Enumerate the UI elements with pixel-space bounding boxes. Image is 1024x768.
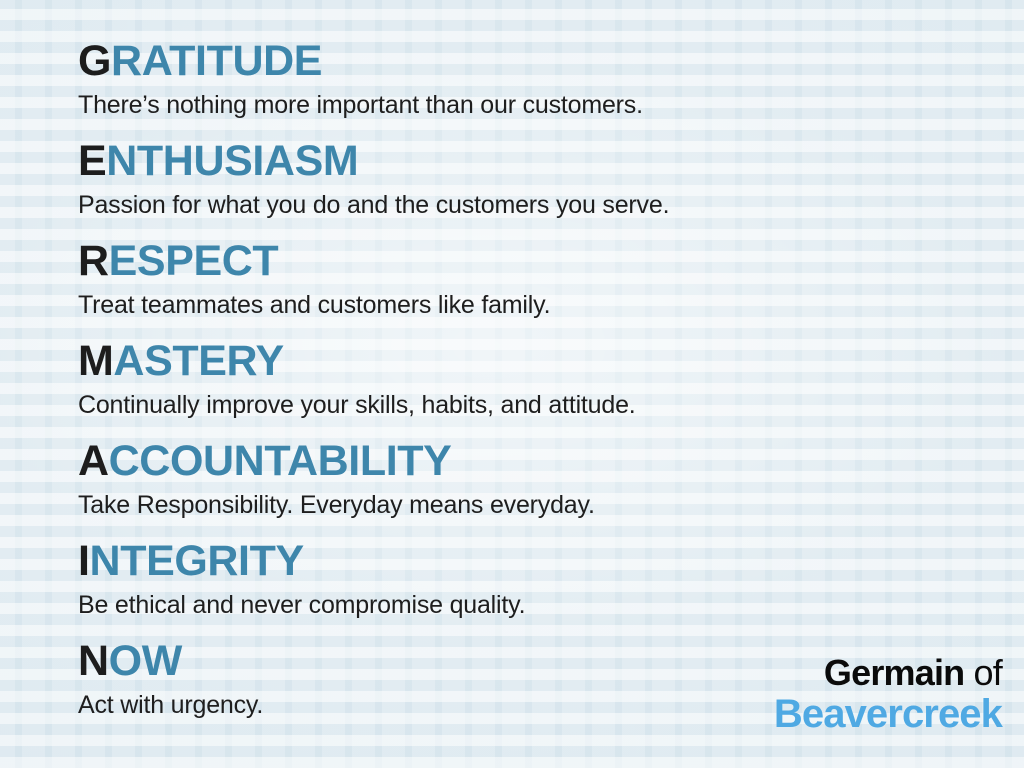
value-initial-letter: R: [78, 237, 109, 285]
value-row: ENTHUSIASM Passion for what you do and t…: [78, 136, 978, 236]
value-row: ACCOUNTABILITY Take Responsibility. Ever…: [78, 436, 978, 536]
logo-top-line: Germain of: [774, 655, 1002, 691]
core-values-list: GRATITUDE There’s nothing more important…: [78, 36, 978, 736]
value-row: GRATITUDE There’s nothing more important…: [78, 36, 978, 136]
poster-content: GRATITUDE There’s nothing more important…: [0, 0, 1024, 768]
logo-location-name: Beavercreek: [774, 694, 1002, 734]
value-heading-rest: OW: [109, 637, 182, 685]
value-initial-letter: M: [78, 337, 113, 385]
value-heading: ENTHUSIASM: [78, 136, 978, 186]
value-heading: MASTERY: [78, 336, 978, 386]
value-heading-rest: RATITUDE: [111, 37, 322, 85]
value-heading: RESPECT: [78, 236, 978, 286]
dealership-logo: Germain of Beavercreek: [774, 655, 1002, 734]
value-row: INTEGRITY Be ethical and never compromis…: [78, 536, 978, 636]
value-subtitle: Take Responsibility. Everyday means ever…: [78, 486, 978, 522]
value-heading-rest: NTEGRITY: [90, 537, 304, 585]
logo-connector-word: of: [964, 652, 1002, 693]
logo-brand-name: Germain: [824, 652, 964, 693]
value-initial-letter: A: [78, 437, 109, 485]
value-heading-rest: ASTERY: [113, 337, 283, 385]
value-heading-rest: NTHUSIASM: [106, 137, 358, 185]
value-subtitle: Passion for what you do and the customer…: [78, 186, 978, 222]
value-row: RESPECT Treat teammates and customers li…: [78, 236, 978, 336]
value-heading: INTEGRITY: [78, 536, 978, 586]
value-initial-letter: G: [78, 37, 111, 85]
value-row: MASTERY Continually improve your skills,…: [78, 336, 978, 436]
value-heading: GRATITUDE: [78, 36, 978, 86]
value-initial-letter: I: [78, 537, 90, 585]
value-initial-letter: E: [78, 137, 106, 185]
value-subtitle: Treat teammates and customers like famil…: [78, 286, 978, 322]
value-heading-rest: CCOUNTABILITY: [109, 437, 452, 485]
value-subtitle: There’s nothing more important than our …: [78, 86, 978, 122]
value-heading: ACCOUNTABILITY: [78, 436, 978, 486]
value-subtitle: Continually improve your skills, habits,…: [78, 386, 978, 422]
value-initial-letter: N: [78, 637, 109, 685]
value-heading-rest: ESPECT: [109, 237, 279, 285]
value-subtitle: Be ethical and never compromise quality.: [78, 586, 978, 622]
